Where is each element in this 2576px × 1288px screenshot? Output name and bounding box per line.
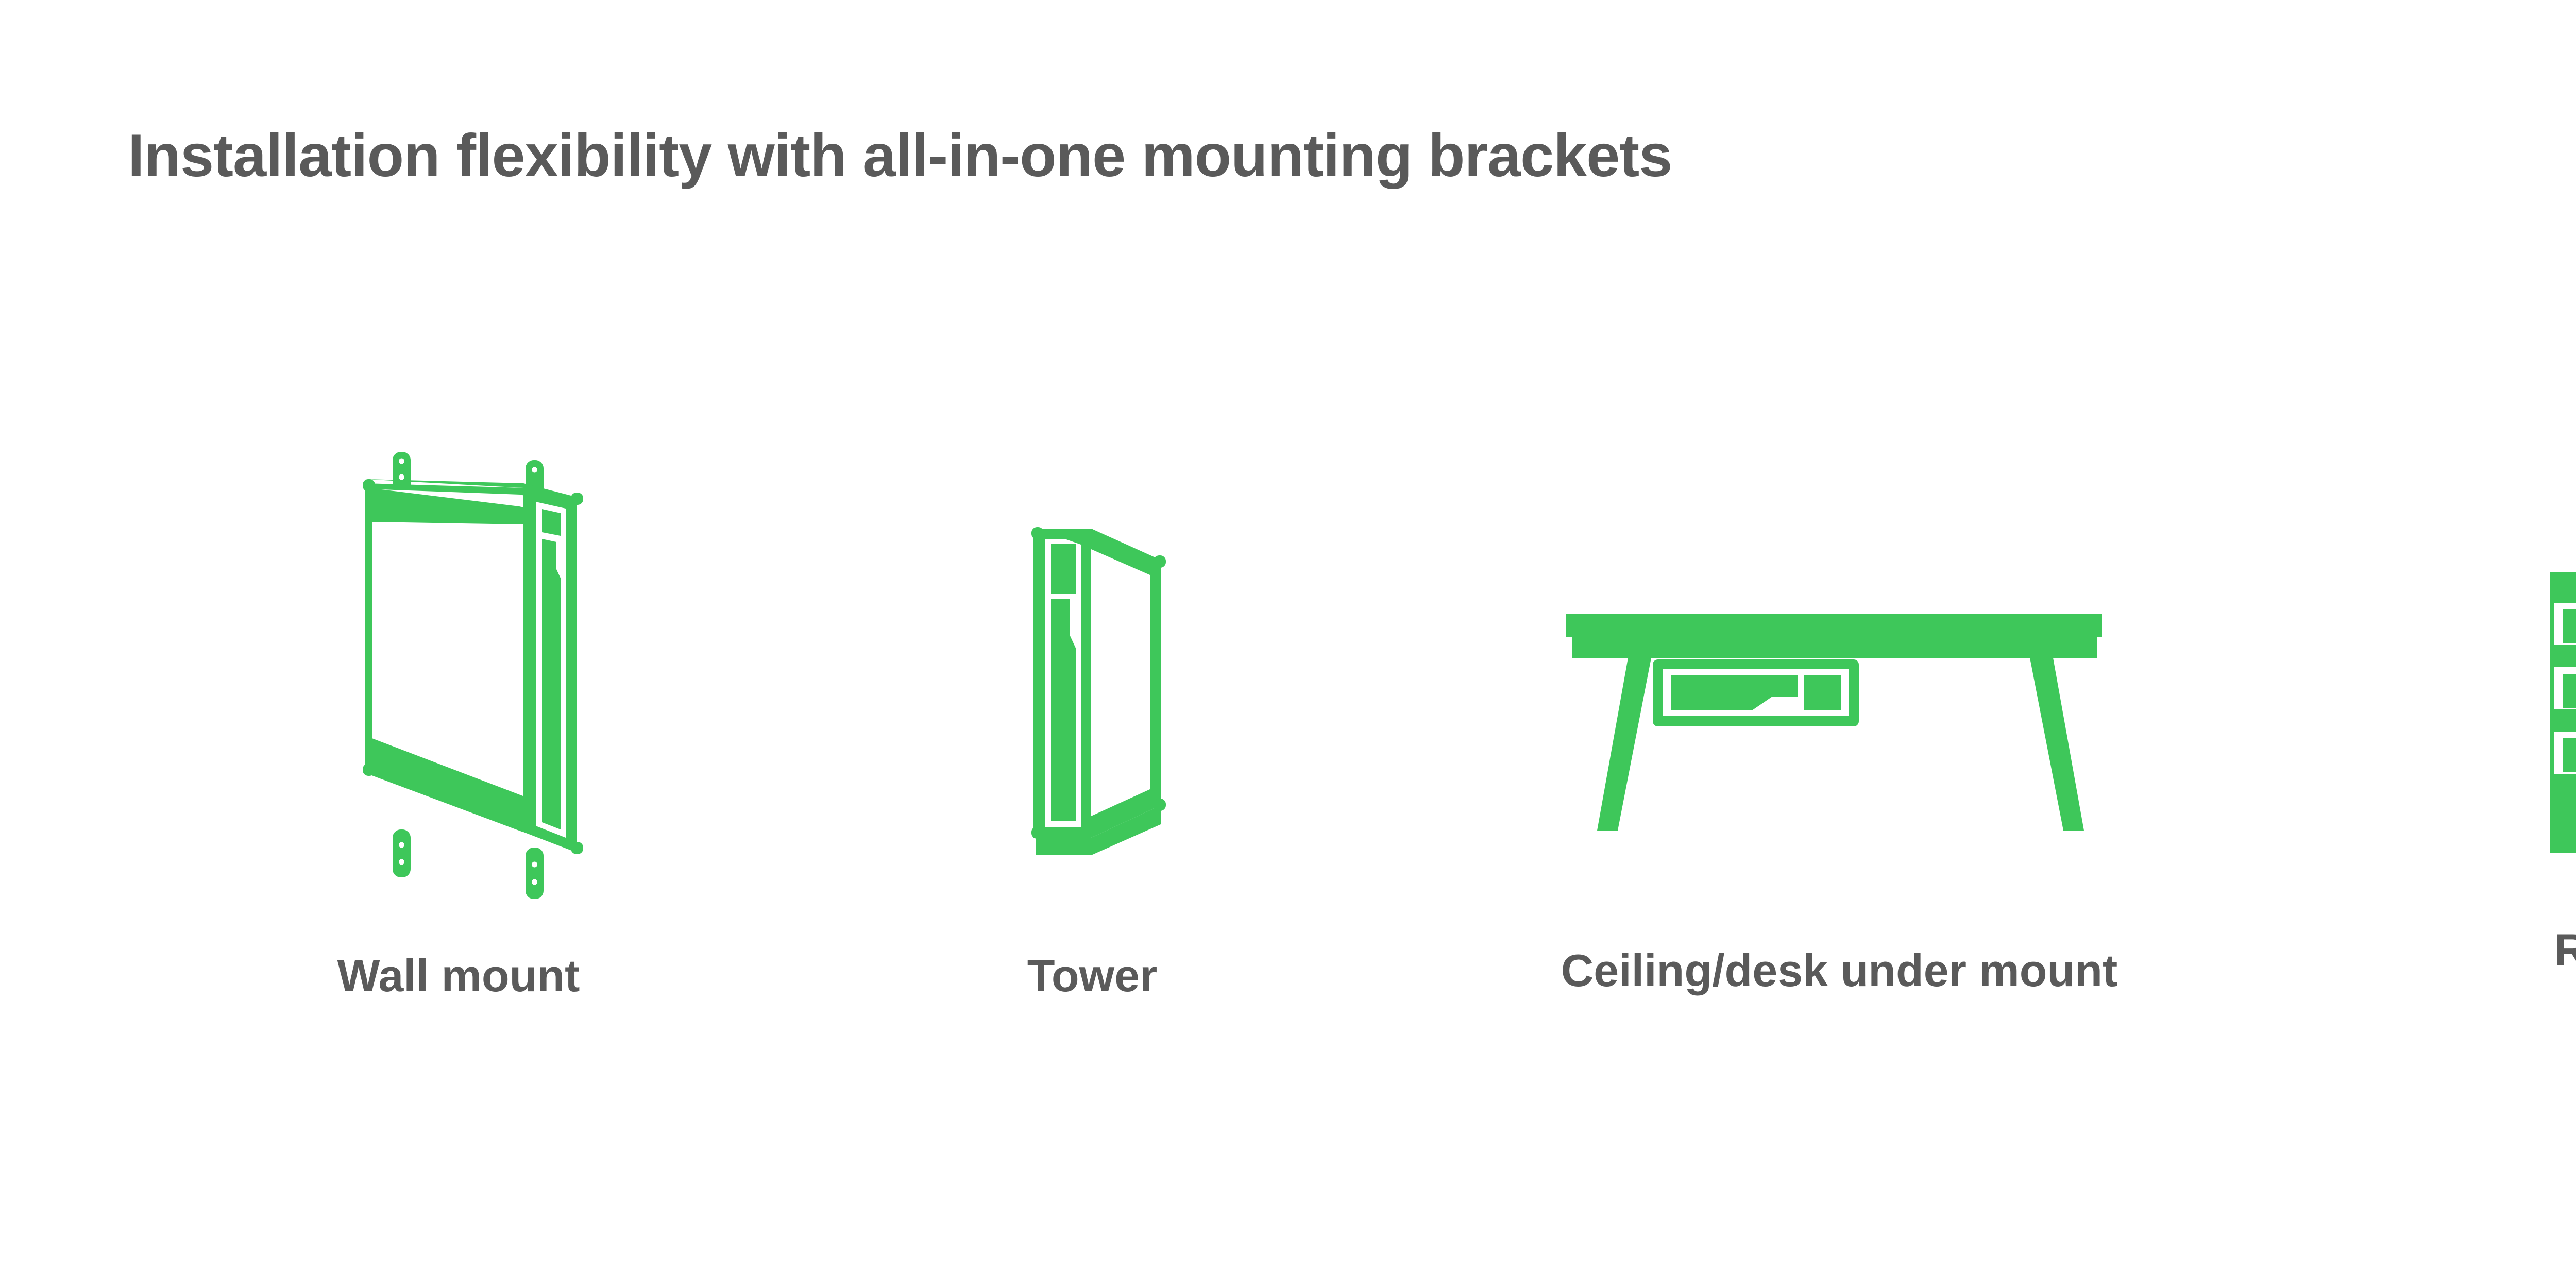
mount-option-rack-mount[interactable]: Rack mount <box>2550 572 2576 984</box>
mount-option-tower[interactable]: Tower <box>1005 505 1211 917</box>
mount-option-label: Wall mount <box>227 953 690 998</box>
mount-option-label: Rack mount <box>2458 927 2576 973</box>
mount-option-wall-mount[interactable]: Wall mount <box>319 438 608 912</box>
mount-option-label: Ceiling/desk under mount <box>1525 948 2154 993</box>
mount-option-ceiling-desk[interactable]: Ceiling/desk under mount <box>1566 592 2133 1005</box>
slide-canvas: Installation flexibility with all-in-one… <box>0 0 2576 1288</box>
rack-mount-icon <box>2550 572 2576 853</box>
wall-mount-bracket-icon <box>319 438 587 902</box>
mount-option-label: Tower <box>860 953 1324 998</box>
tower-stand-icon <box>1005 505 1180 855</box>
desk-under-mount-icon <box>1566 608 2112 866</box>
mount-options-row: Wall mount <box>0 0 2576 1288</box>
